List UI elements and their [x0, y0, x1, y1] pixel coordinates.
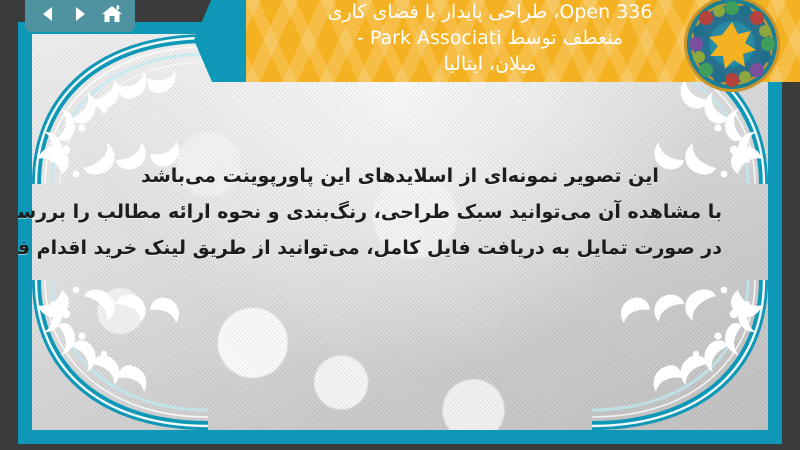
navigation-button-group	[25, 0, 135, 32]
banner-line-1: Open 336، طراحی پایدار با فضای کاری	[328, 0, 653, 25]
forward-icon[interactable]	[67, 1, 93, 27]
body-line-1: این تصویر نمونه‌ای از اسلایدهای این پاور…	[78, 158, 722, 194]
banner-line-2: منعطف توسط Park Associati -	[357, 25, 623, 51]
home-icon[interactable]	[99, 1, 125, 27]
body-line-3: در صورت تمایل به دریافت فایل کامل، می‌تو…	[78, 230, 722, 266]
banner-line-3: میلان، ایتالیا	[444, 51, 537, 77]
title-banner: Open 336، طراحی پایدار با فضای کاری منعط…	[194, 0, 800, 82]
back-icon[interactable]	[35, 1, 61, 27]
slide-card: این تصویر نمونه‌ای از اسلایدهای این پاور…	[18, 20, 782, 444]
banner-text: Open 336، طراحی پایدار با فضای کاری منعط…	[194, 0, 786, 82]
slide-viewer: این تصویر نمونه‌ای از اسلایدهای این پاور…	[0, 0, 800, 450]
body-line-2: با مشاهده آن می‌توانید سبک طراحی، رنگ‌بن…	[78, 194, 722, 230]
slide-body-text: این تصویر نمونه‌ای از اسلایدهای این پاور…	[78, 158, 722, 266]
